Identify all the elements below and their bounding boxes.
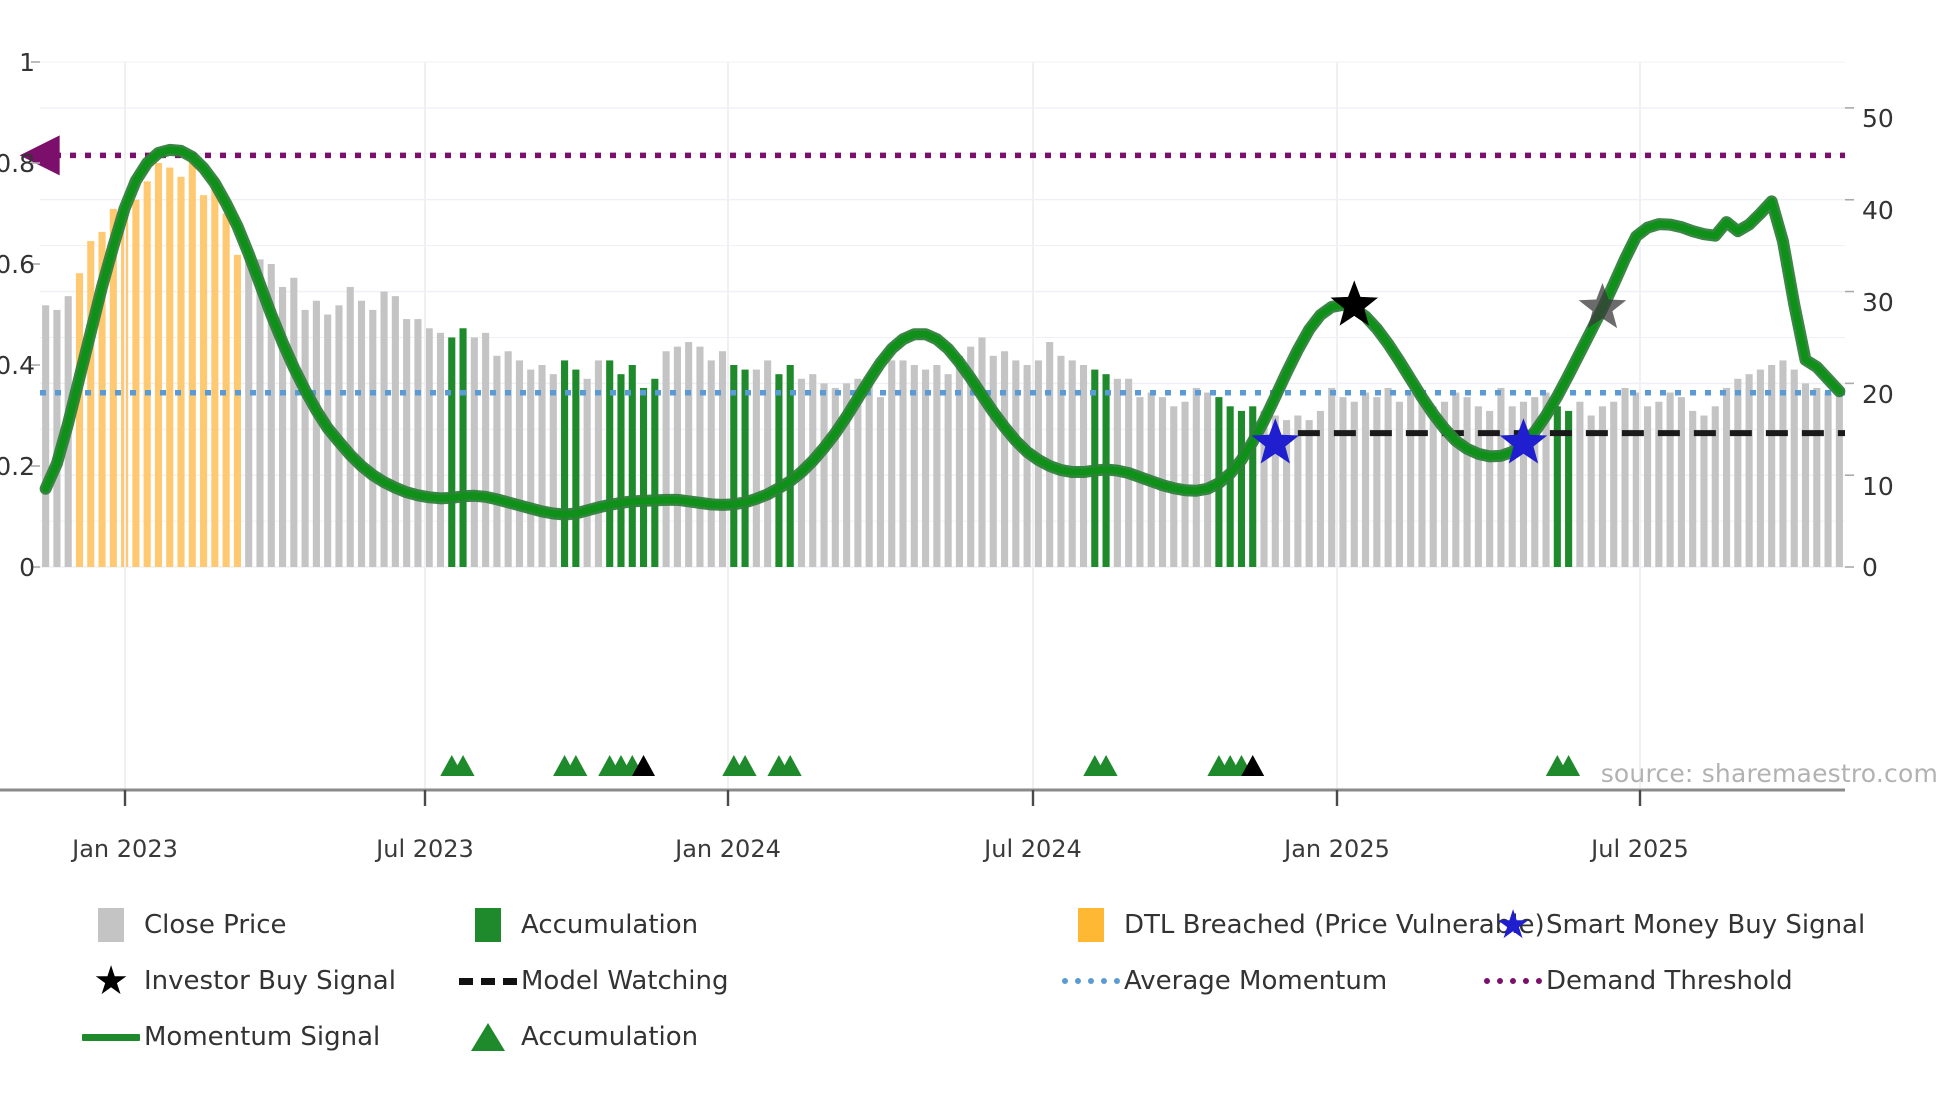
legend-item-close-price[interactable]: Close Price xyxy=(78,905,468,945)
price-bar xyxy=(358,301,365,567)
price-bar xyxy=(302,310,309,567)
price-bar xyxy=(166,168,173,567)
price-bar xyxy=(132,200,139,567)
price-bar xyxy=(437,333,444,567)
y-axis-right-tick-30: 30 xyxy=(1862,288,1894,317)
dotted-blue-line-icon xyxy=(1058,964,1124,998)
price-bar xyxy=(1813,388,1820,567)
y-axis-right-tick-40: 40 xyxy=(1862,196,1894,225)
price-bar xyxy=(426,328,433,567)
price-bar xyxy=(1227,406,1234,567)
price-bar xyxy=(663,351,670,567)
price-bar xyxy=(493,356,500,567)
price-bar xyxy=(775,374,782,567)
price-bar xyxy=(177,177,184,567)
price-bar xyxy=(1204,393,1211,567)
price-bar xyxy=(369,310,376,567)
accumulation-triangle-markers xyxy=(440,755,1580,776)
x-axis-tick-jul-2024: Jul 2024 xyxy=(984,835,1082,863)
close-price-square-icon xyxy=(78,908,144,942)
y-axis-right-tick-10: 10 xyxy=(1862,472,1894,501)
legend-item-smart-money-buy-signal[interactable]: ★ Smart Money Buy Signal xyxy=(1480,905,1910,945)
price-bar xyxy=(1396,402,1403,567)
price-bar xyxy=(719,351,726,567)
price-bar xyxy=(1621,388,1628,567)
line-icon xyxy=(78,1020,144,1054)
price-bar xyxy=(1418,402,1425,567)
price-bar xyxy=(866,383,873,567)
price-bar xyxy=(505,351,512,567)
price-bar xyxy=(651,379,658,567)
x-axis-tick-jul-2023: Jul 2023 xyxy=(376,835,474,863)
price-bar xyxy=(742,370,749,567)
chart-root: 1 0.8 0.6 0.4 0.2 0 50 40 30 20 10 0 Jan… xyxy=(0,0,1960,1102)
price-bar xyxy=(945,374,952,567)
price-bar xyxy=(324,315,331,568)
legend-item-model-watching[interactable]: Model Watching xyxy=(455,961,845,1001)
dotted-purple-line-icon xyxy=(1480,964,1546,998)
price-bar xyxy=(922,370,929,567)
price-bar xyxy=(1430,406,1437,567)
legend-label: Demand Threshold xyxy=(1546,966,1793,996)
star-blue-icon: ★ xyxy=(1480,908,1546,942)
price-bar xyxy=(1238,411,1245,567)
price-bar xyxy=(1452,393,1459,567)
x-axis-tick-jan-2024: Jan 2024 xyxy=(675,835,781,863)
price-bar xyxy=(1001,351,1008,567)
legend-label: Accumulation xyxy=(521,910,698,940)
triangle-icon xyxy=(455,1020,521,1054)
legend-item-demand-threshold[interactable]: Demand Threshold xyxy=(1480,961,1910,1001)
price-bar xyxy=(550,374,557,567)
price-bar xyxy=(1644,406,1651,567)
legend-label: Investor Buy Signal xyxy=(144,966,396,996)
price-bar xyxy=(1024,365,1031,567)
price-bar xyxy=(200,195,207,567)
price-bar xyxy=(403,319,410,567)
legend-label: Momentum Signal xyxy=(144,1022,380,1052)
price-bar xyxy=(155,163,162,567)
price-bar xyxy=(1497,388,1504,567)
price-bar xyxy=(459,328,466,567)
legend-item-average-momentum[interactable]: Average Momentum xyxy=(1058,961,1488,1001)
source-watermark: source: sharemaestro.com xyxy=(1601,759,1938,788)
price-bar xyxy=(1046,342,1053,567)
y-axis-left-tick-0: 0 xyxy=(19,553,35,582)
price-bar xyxy=(1667,393,1674,567)
chart-legend: Close Price ★ Investor Buy Signal Moment… xyxy=(0,905,1960,1065)
y-axis-right-tick-0: 0 xyxy=(1862,553,1878,582)
price-bar xyxy=(471,337,478,567)
legend-label: Model Watching xyxy=(521,966,728,996)
price-bar xyxy=(1791,370,1798,567)
x-axis-tick-jan-2025: Jan 2025 xyxy=(1284,835,1390,863)
legend-item-dtl-breached[interactable]: DTL Breached (Price Vulnerable) xyxy=(1058,905,1488,945)
price-bar xyxy=(674,347,681,567)
price-bar xyxy=(990,356,997,567)
price-bar xyxy=(753,370,760,567)
price-bar xyxy=(245,250,252,567)
price-bar xyxy=(1576,402,1583,567)
price-bar xyxy=(696,347,703,567)
price-bar xyxy=(87,241,94,567)
price-bar xyxy=(1339,397,1346,567)
dtl-square-icon xyxy=(1058,908,1124,942)
price-bar xyxy=(414,319,421,567)
legend-column-3: DTL Breached (Price Vulnerable) Average … xyxy=(1058,905,1488,1017)
price-bar xyxy=(1836,388,1843,567)
price-bar xyxy=(234,255,241,567)
price-bar xyxy=(1464,397,1471,567)
y-axis-right-tick-20: 20 xyxy=(1862,380,1894,409)
price-bar xyxy=(572,370,579,567)
price-bar xyxy=(1069,360,1076,567)
price-bar xyxy=(1351,402,1358,567)
price-bar xyxy=(1385,388,1392,567)
price-bar xyxy=(1633,393,1640,567)
price-bar xyxy=(482,333,489,567)
price-bar xyxy=(1306,420,1313,567)
price-bar xyxy=(290,278,297,567)
star-icon: ★ xyxy=(78,964,144,998)
legend-item-momentum-signal[interactable]: Momentum Signal xyxy=(78,1017,468,1057)
dashed-line-icon xyxy=(455,964,521,998)
price-bar xyxy=(1193,388,1200,567)
price-bar xyxy=(42,305,49,567)
legend-label: Close Price xyxy=(144,910,287,940)
legend-item-investor-buy-signal[interactable]: ★ Investor Buy Signal xyxy=(78,961,468,1001)
y-axis-left-tick-1: 1 xyxy=(19,48,35,77)
price-bar xyxy=(1373,397,1380,567)
legend-column-4: ★ Smart Money Buy Signal Demand Threshol… xyxy=(1480,905,1910,1017)
y-axis-left-tick-0_2: 0.2 xyxy=(0,452,35,481)
y-axis-left-tick-0_4: 0.4 xyxy=(0,351,35,380)
price-bar xyxy=(1588,416,1595,568)
price-bar xyxy=(832,388,839,567)
price-bar xyxy=(381,292,388,567)
legend-column-1: Close Price ★ Investor Buy Signal Moment… xyxy=(78,905,468,1073)
price-bar xyxy=(1734,379,1741,567)
price-bar xyxy=(392,296,399,567)
price-bar xyxy=(1678,397,1685,567)
price-bar xyxy=(708,360,715,567)
grid-lines xyxy=(40,62,1845,567)
price-bar xyxy=(956,356,963,567)
price-bar xyxy=(313,301,320,567)
price-bar xyxy=(584,379,591,567)
price-bar xyxy=(1825,393,1832,567)
legend-column-2: Accumulation Model Watching Accumulation xyxy=(455,905,845,1073)
price-bar xyxy=(1328,388,1335,567)
price-bar xyxy=(1407,393,1414,567)
x-axis-tick-jan-2023: Jan 2023 xyxy=(72,835,178,863)
price-bar xyxy=(144,181,151,567)
price-bar xyxy=(1700,416,1707,568)
legend-item-accumulation-bar[interactable]: Accumulation xyxy=(455,905,845,945)
y-axis-left-tick-0_8: 0.8 xyxy=(0,149,35,178)
y-axis-left-tick-0_6: 0.6 xyxy=(0,250,35,279)
price-bar xyxy=(1610,402,1617,567)
x-axis-tick-jul-2025: Jul 2025 xyxy=(1591,835,1689,863)
price-bar xyxy=(1057,356,1064,567)
price-bar xyxy=(685,342,692,567)
price-bar xyxy=(1746,374,1753,567)
price-bar xyxy=(1757,370,1764,567)
price-bar xyxy=(1362,393,1369,567)
y-axis-right-tick-50: 50 xyxy=(1862,104,1894,133)
price-bar xyxy=(820,383,827,567)
legend-label: Average Momentum xyxy=(1124,966,1387,996)
price-bar xyxy=(978,337,985,567)
price-bar xyxy=(448,337,455,567)
price-bar xyxy=(888,360,895,567)
price-bar xyxy=(347,287,354,567)
price-bar xyxy=(1655,402,1662,567)
price-bar xyxy=(211,177,218,567)
price-bar xyxy=(617,374,624,567)
legend-label: Smart Money Buy Signal xyxy=(1546,910,1865,940)
price-bar xyxy=(1802,383,1809,567)
price-bar xyxy=(76,273,83,567)
price-bar xyxy=(640,388,647,567)
price-bar xyxy=(189,158,196,567)
legend-item-accumulation-triangle[interactable]: Accumulation xyxy=(455,1017,845,1057)
legend-label: Accumulation xyxy=(521,1022,698,1052)
price-bar xyxy=(527,370,534,567)
accumulation-square-icon xyxy=(455,908,521,942)
price-bar xyxy=(877,397,884,567)
price-bar xyxy=(933,365,940,567)
price-bar xyxy=(1723,388,1730,567)
